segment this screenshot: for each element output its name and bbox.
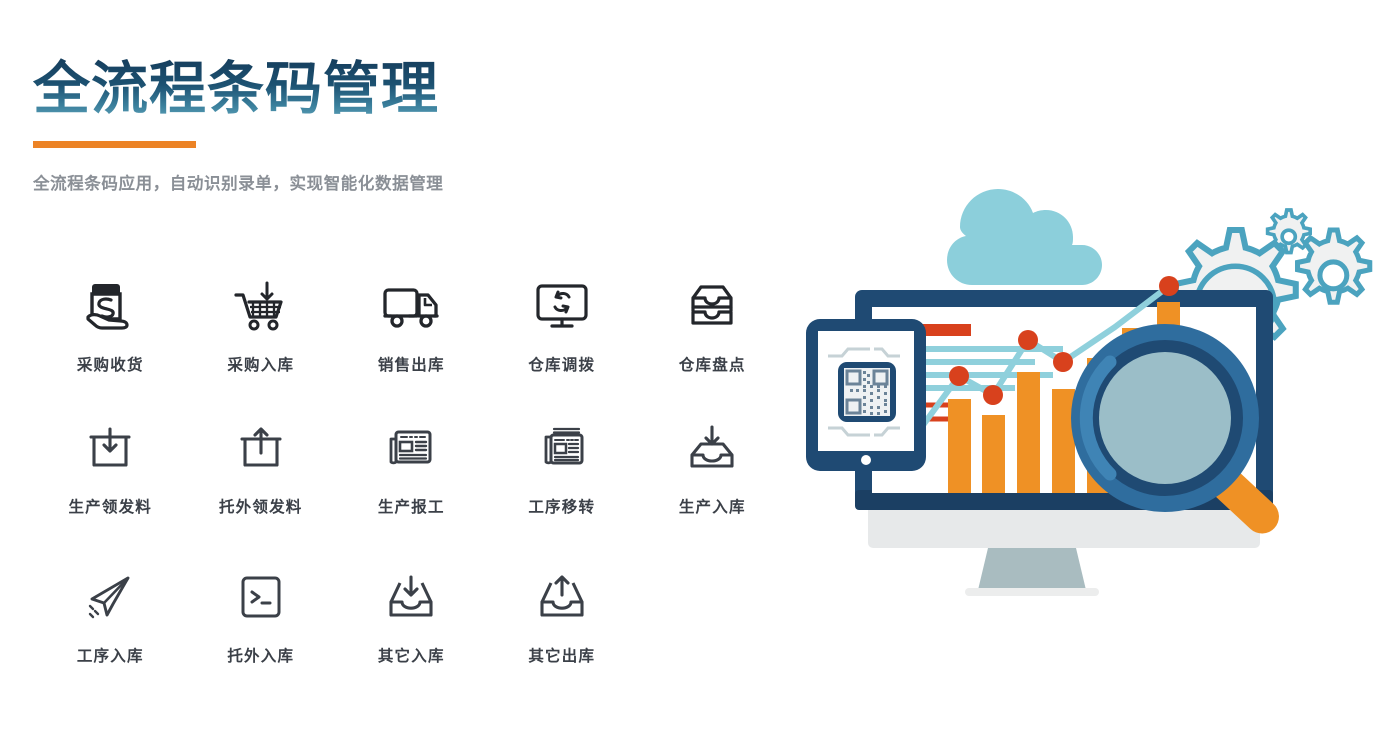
title-underline-rule	[33, 141, 196, 148]
feature-label: 托外领发料	[219, 495, 303, 517]
tablet-icon	[802, 315, 926, 471]
feature-label: 销售出库	[378, 353, 445, 375]
feature-row-3: 工序入库 托外入库 其它入库	[35, 566, 637, 666]
outsource-issue-box-up-icon	[232, 417, 290, 475]
process-instock-paperplane-icon	[81, 566, 139, 624]
feature-item-purchase-receipt[interactable]: 采购收货	[35, 275, 186, 375]
feature-label: 生产领发料	[68, 495, 152, 517]
feature-label: 仓库调拨	[528, 353, 595, 375]
feature-label: 工序移转	[528, 495, 595, 517]
production-instock-tray-down-icon	[683, 417, 741, 475]
page-title: 全流程条码管理	[33, 58, 439, 122]
feature-label: 工序入库	[77, 644, 144, 666]
production-report-news-icon	[382, 417, 440, 475]
warehouse-transfer-monitor-icon	[533, 275, 591, 333]
feature-label: 其它入库	[378, 644, 445, 666]
feature-item-outsource-instock[interactable]: 托外入库	[186, 566, 337, 666]
production-issue-box-down-icon	[81, 417, 139, 475]
feature-item-process-transfer[interactable]: 工序移转	[487, 417, 638, 517]
feature-label: 生产入库	[679, 495, 746, 517]
page-subtitle: 全流程条码应用，自动识别录单，实现智能化数据管理	[33, 170, 443, 194]
feature-item-production-report[interactable]: 生产报工	[336, 417, 487, 517]
barcode-analytics-illustration	[760, 150, 1378, 690]
other-outbound-tray-up-icon	[533, 566, 591, 624]
feature-label: 仓库盘点	[679, 353, 746, 375]
process-transfer-news-icon	[533, 417, 591, 475]
feature-label: 采购收货	[77, 353, 144, 375]
purchase-receipt-icon	[81, 275, 139, 333]
feature-row-2: 生产领发料 托外领发料	[35, 417, 788, 517]
warehouse-stocktake-trays-icon	[683, 275, 741, 333]
feature-item-other-outbound[interactable]: 其它出库	[487, 566, 638, 666]
purchase-instock-cart-icon	[232, 275, 290, 333]
feature-item-outsource-issue[interactable]: 托外领发料	[186, 417, 337, 517]
monitor-stand	[965, 548, 1099, 596]
feature-item-other-instock[interactable]: 其它入库	[336, 566, 487, 666]
page-root: 全流程条码管理 全流程条码应用，自动识别录单，实现智能化数据管理 采购收货	[0, 0, 1378, 755]
feature-label: 其它出库	[528, 644, 595, 666]
outsource-instock-terminal-icon	[232, 566, 290, 624]
feature-label: 托外入库	[227, 644, 294, 666]
feature-item-sales-outbound[interactable]: 销售出库	[336, 275, 487, 375]
feature-item-process-instock[interactable]: 工序入库	[35, 566, 186, 666]
feature-item-purchase-instock[interactable]: 采购入库	[186, 275, 337, 375]
feature-item-warehouse-transfer[interactable]: 仓库调拨	[487, 275, 638, 375]
feature-label: 生产报工	[378, 495, 445, 517]
feature-row-1: 采购收货 采购入库	[35, 275, 788, 375]
sales-outbound-truck-icon	[381, 275, 441, 333]
feature-label: 采购入库	[227, 353, 294, 375]
feature-item-production-issue[interactable]: 生产领发料	[35, 417, 186, 517]
cloud-icon	[947, 189, 1102, 285]
other-instock-tray-down-icon	[382, 566, 440, 624]
gear-icon	[1298, 230, 1370, 302]
